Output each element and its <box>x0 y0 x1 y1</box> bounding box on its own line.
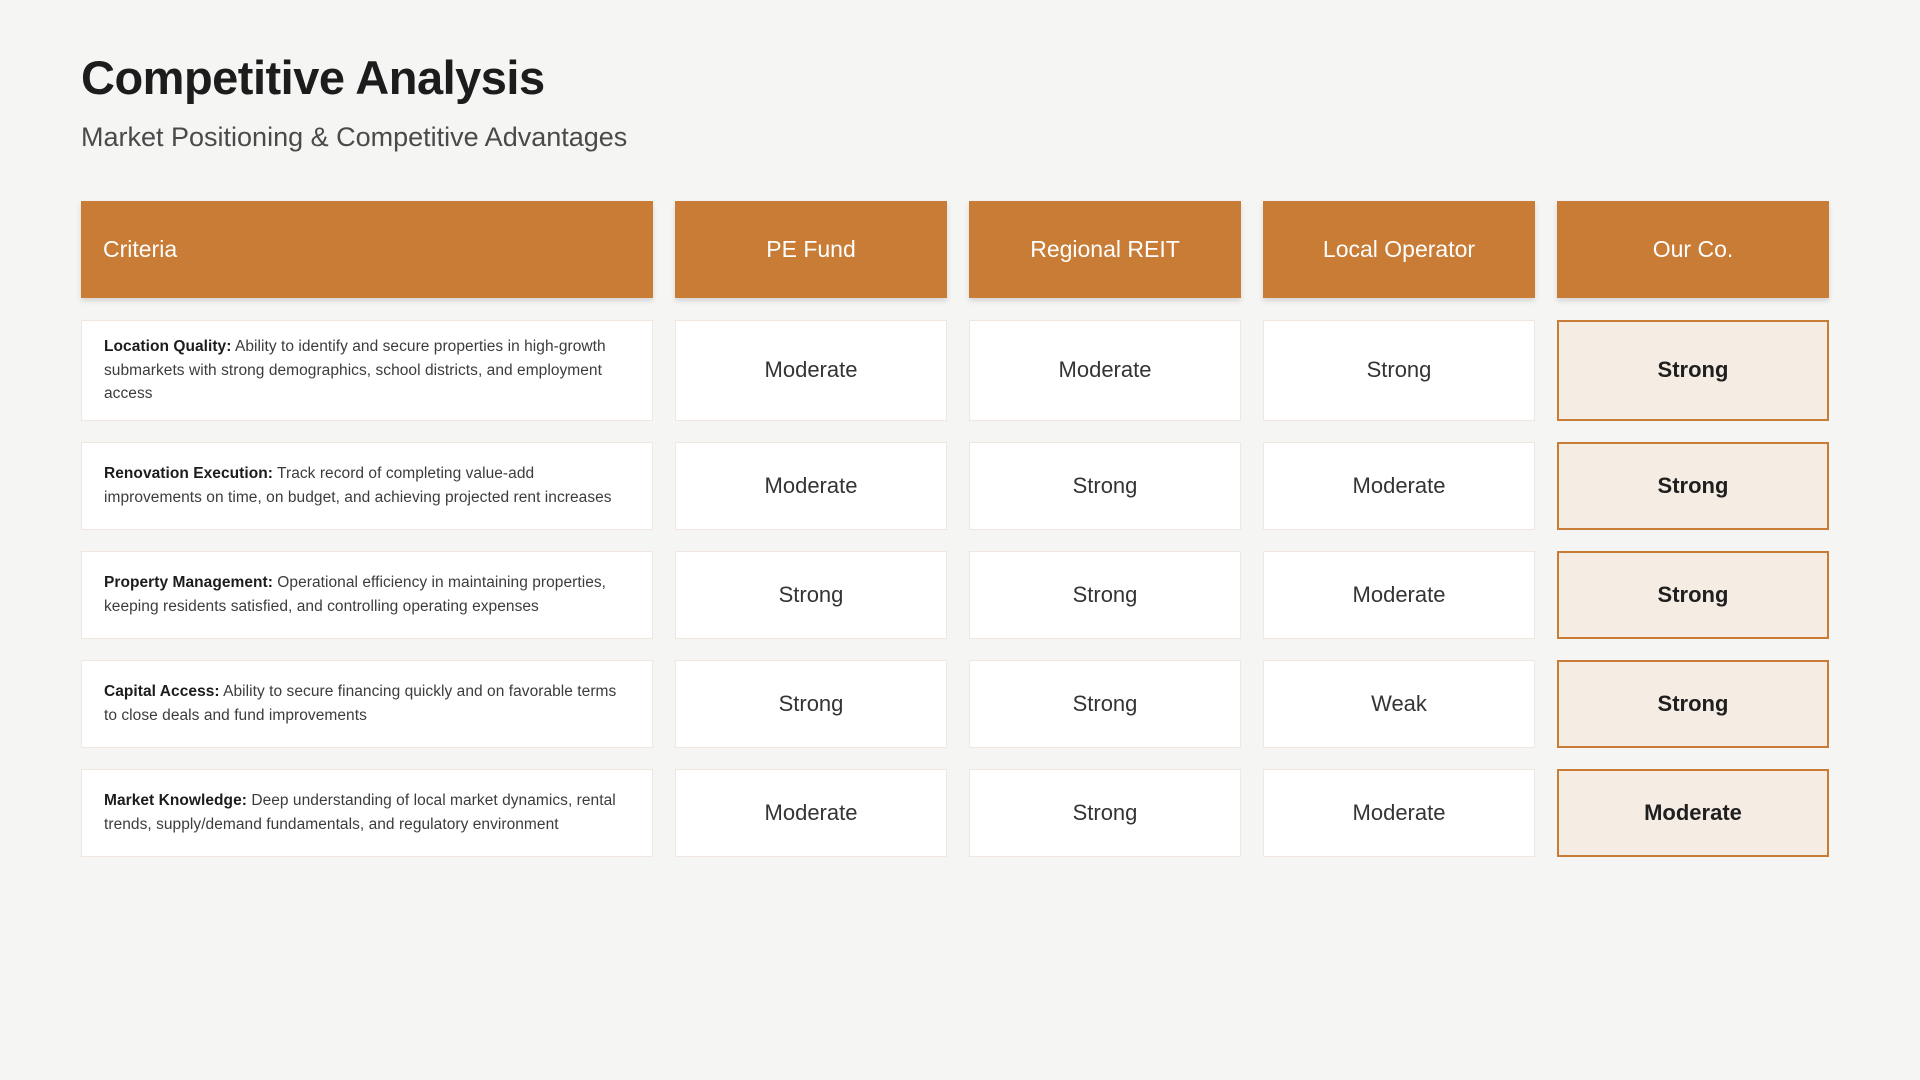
rating-cell-our-co: Strong <box>1557 442 1829 530</box>
column-header-our-co[interactable]: Our Co. <box>1557 201 1829 298</box>
rating-cell-regional-reit: Strong <box>969 551 1241 639</box>
rating-cell-our-co: Strong <box>1557 551 1829 639</box>
criteria-text: Location Quality: Ability to identify an… <box>104 335 630 406</box>
rating-cell-pe-fund: Moderate <box>675 769 947 857</box>
criteria-label: Renovation Execution: <box>104 465 273 482</box>
table-body: Location Quality: Ability to identify an… <box>81 320 1839 857</box>
page-subtitle: Market Positioning & Competitive Advanta… <box>81 121 1839 153</box>
column-header-pe-fund[interactable]: PE Fund <box>675 201 947 298</box>
slide-root: Competitive Analysis Market Positioning … <box>0 0 1920 1080</box>
column-header-criteria[interactable]: Criteria <box>81 201 653 298</box>
criteria-cell: Renovation Execution: Track record of co… <box>81 442 653 530</box>
table-row: Location Quality: Ability to identify an… <box>81 320 1839 421</box>
rating-cell-local-operator: Moderate <box>1263 551 1535 639</box>
criteria-cell: Location Quality: Ability to identify an… <box>81 320 653 421</box>
criteria-text: Capital Access: Ability to secure financ… <box>104 680 630 727</box>
table-row: Renovation Execution: Track record of co… <box>81 442 1839 530</box>
criteria-label: Property Management: <box>104 574 273 591</box>
criteria-label: Location Quality: <box>104 338 231 355</box>
column-header-local-operator[interactable]: Local Operator <box>1263 201 1535 298</box>
competitive-matrix-table: Criteria PE Fund Regional REIT Local Ope… <box>81 201 1839 857</box>
header-block: Competitive Analysis Market Positioning … <box>81 52 1839 153</box>
criteria-cell: Market Knowledge: Deep understanding of … <box>81 769 653 857</box>
rating-cell-regional-reit: Strong <box>969 769 1241 857</box>
rating-cell-pe-fund: Strong <box>675 660 947 748</box>
criteria-text: Property Management: Operational efficie… <box>104 571 630 618</box>
table-row: Capital Access: Ability to secure financ… <box>81 660 1839 748</box>
rating-cell-regional-reit: Strong <box>969 442 1241 530</box>
page-title: Competitive Analysis <box>81 52 1839 105</box>
rating-cell-our-co: Moderate <box>1557 769 1829 857</box>
criteria-cell: Property Management: Operational efficie… <box>81 551 653 639</box>
criteria-label: Market Knowledge: <box>104 792 247 809</box>
rating-cell-local-operator: Strong <box>1263 320 1535 421</box>
rating-cell-pe-fund: Moderate <box>675 320 947 421</box>
column-header-regional-reit[interactable]: Regional REIT <box>969 201 1241 298</box>
criteria-label: Capital Access: <box>104 683 220 700</box>
rating-cell-regional-reit: Moderate <box>969 320 1241 421</box>
rating-cell-pe-fund: Strong <box>675 551 947 639</box>
rating-cell-local-operator: Moderate <box>1263 442 1535 530</box>
rating-cell-regional-reit: Strong <box>969 660 1241 748</box>
rating-cell-our-co: Strong <box>1557 660 1829 748</box>
table-header-row: Criteria PE Fund Regional REIT Local Ope… <box>81 201 1839 298</box>
table-row: Property Management: Operational efficie… <box>81 551 1839 639</box>
rating-cell-local-operator: Moderate <box>1263 769 1535 857</box>
criteria-cell: Capital Access: Ability to secure financ… <box>81 660 653 748</box>
rating-cell-local-operator: Weak <box>1263 660 1535 748</box>
rating-cell-our-co: Strong <box>1557 320 1829 421</box>
criteria-text: Market Knowledge: Deep understanding of … <box>104 789 630 836</box>
rating-cell-pe-fund: Moderate <box>675 442 947 530</box>
table-row: Market Knowledge: Deep understanding of … <box>81 769 1839 857</box>
criteria-text: Renovation Execution: Track record of co… <box>104 462 630 509</box>
